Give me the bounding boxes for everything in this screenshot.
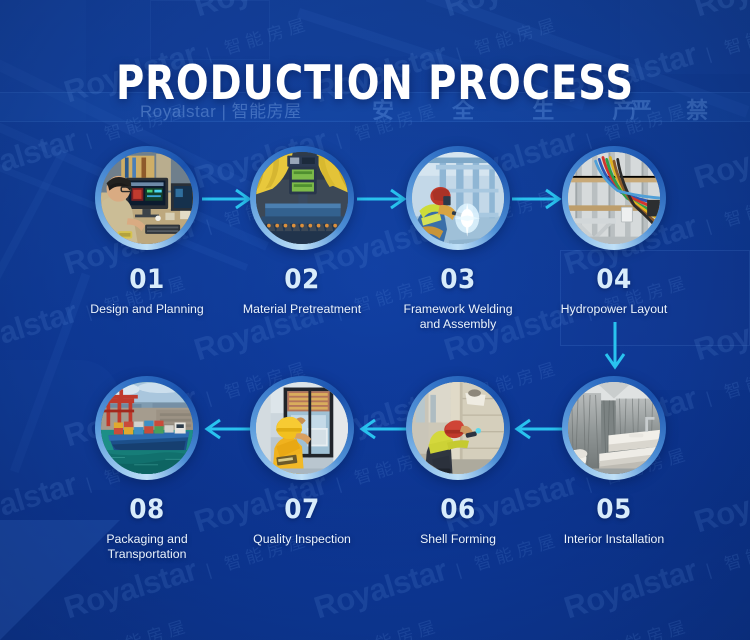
step-08-label: Packaging and Transportation [69,532,225,562]
step-04-image-circle[interactable] [562,146,666,250]
photo-electrical-wiring-in-wall-frame [568,152,660,244]
step-04[interactable]: 04 Hydropower Layout [536,146,692,317]
step-06-label: Shell Forming [380,532,536,547]
photo-cnc-laser-cutting-machine [256,152,348,244]
step-03-label-line-1: Framework Welding [384,302,532,317]
photo-finished-bathroom-interior-marble [568,382,660,474]
step-04-number: 04 [542,264,686,295]
photo-engineer-at-computer-cad-design [101,152,193,244]
step-08-image-circle[interactable] [95,376,199,480]
step-06-image-circle[interactable] [406,376,510,480]
step-01-label: Design and Planning [69,302,225,317]
step-01[interactable]: 01 Design and Planning [69,146,225,317]
step-05-label: Interior Installation [536,532,692,547]
step-03[interactable]: 03 Framework Welding and Assembly [380,146,536,332]
step-07-number: 07 [230,494,374,525]
step-02[interactable]: 02 Material Pretreatment [224,146,380,317]
step-02-image-circle[interactable] [250,146,354,250]
photo-welder-welding-steel-frame [412,152,504,244]
step-02-label: Material Pretreatment [224,302,380,317]
step-05-number: 05 [542,494,686,525]
step-04-label: Hydropower Layout [536,302,692,317]
step-05[interactable]: 05 Interior Installation [536,376,692,547]
step-03-image-circle[interactable] [406,146,510,250]
page-title: PRODUCTION PROCESS [68,56,683,111]
step-03-number: 03 [386,264,530,295]
step-01-image-circle[interactable] [95,146,199,250]
photo-container-port-cargo-ship-cranes [101,382,193,474]
step-07-label: Quality Inspection [224,532,380,547]
step-01-number: 01 [75,264,219,295]
step-06-number: 06 [386,494,530,525]
photo-inspector-checking-window-panel [256,382,348,474]
step-07[interactable]: 07 Quality Inspection [224,376,380,547]
step-08-label-line-2: Transportation [73,547,221,562]
step-03-label: Framework Welding and Assembly [380,302,536,332]
step-08[interactable]: 08 Packaging and Transportation [69,376,225,562]
step-08-label-line-1: Packaging and [73,532,221,547]
arrow-step-04-to-05 [602,320,628,374]
step-02-number: 02 [230,264,374,295]
step-06[interactable]: 06 Shell Forming [380,376,536,547]
step-07-image-circle[interactable] [250,376,354,480]
step-05-image-circle[interactable] [562,376,666,480]
step-08-number: 08 [75,494,219,525]
step-03-label-line-2: and Assembly [384,317,532,332]
photo-worker-installing-wall-panel [412,382,504,474]
